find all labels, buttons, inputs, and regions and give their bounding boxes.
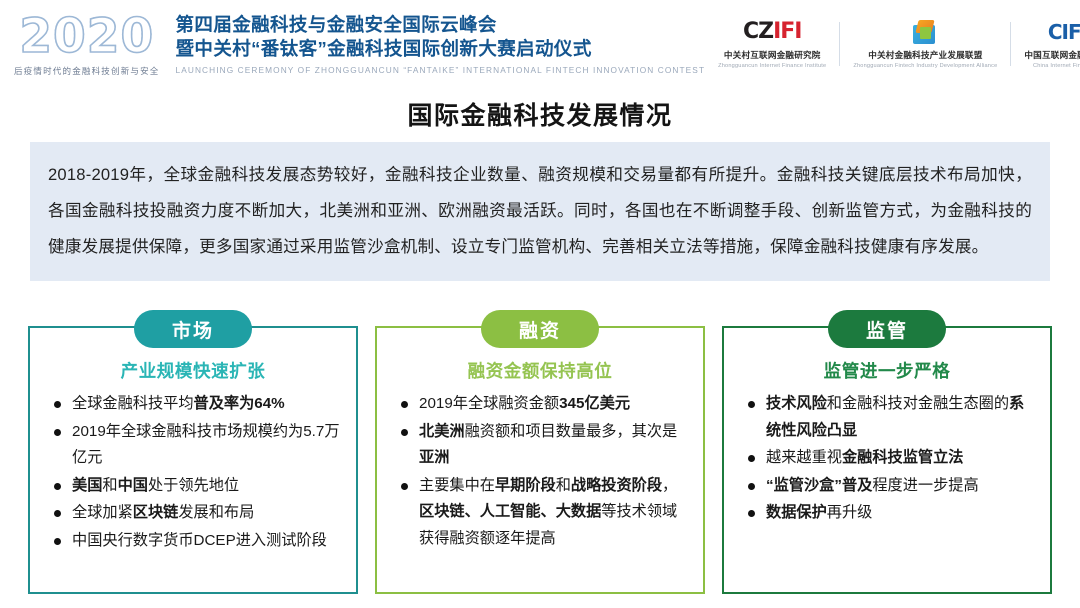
card-market: 市场 产业规模快速扩张 全球金融科技平均普及率为64%2019年全球金融科技市场… (28, 326, 358, 594)
card-regulation-bullets: 技术风险和金融科技对金融生态圈的系统性风险凸显越来越重视金融科技监管立法“监管沙… (734, 391, 1040, 527)
cif30-mark: CIF30 (1048, 20, 1080, 44)
page-title: 国际金融科技发展情况 (0, 96, 1080, 132)
logo-ezifi-en: Zhongguancun Internet Finance Institute (718, 63, 826, 69)
card-market-subtitle: 产业规模快速扩张 (40, 358, 346, 383)
event-title-english: LAUNCHING CEREMONY OF ZHONGGUANCUN “FANT… (176, 65, 706, 75)
cube-logo-icon (912, 19, 938, 45)
logo-ezifi: CZIFI 中关村互联网金融研究院 Zhongguancun Internet … (705, 19, 839, 69)
logo-ezifi-cn: 中关村互联网金融研究院 (724, 49, 821, 61)
logo-cif30: CIF30 中国互联网金融三十人论坛 China Internet Financ… (1011, 19, 1080, 69)
list-item: 中国央行数字货币DCEP进入测试阶段 (50, 528, 340, 555)
list-item: 越来越重视金融科技监管立法 (744, 445, 1034, 472)
logo-alliance-en: Zhongguancun Fintech Industry Developmen… (853, 63, 997, 69)
list-item: 美国和中国处于领先地位 (50, 473, 340, 500)
event-year-logo: 2020 后疫情时代的金融科技创新与安全 (14, 4, 160, 84)
list-item: 2019年全球金融科技市场规模约为5.7万亿元 (50, 419, 340, 472)
ezifi-logo-icon: CZIFI (743, 19, 802, 45)
card-financing: 融资 融资金额保持高位 2019年全球融资金额345亿美元北美洲融资额和项目数量… (375, 326, 705, 594)
logo-cif30-cn: 中国互联网金融三十人论坛 (1024, 49, 1080, 61)
list-item: 技术风险和金融科技对金融生态圈的系统性风险凸显 (744, 391, 1034, 444)
card-financing-bullets: 2019年全球融资金额345亿美元北美洲融资额和项目数量最多，其次是亚洲主要集中… (387, 391, 693, 552)
list-item: 全球金融科技平均普及率为64% (50, 391, 340, 418)
logo-alliance: 中关村金融科技产业发展联盟 Zhongguancun Fintech Indus… (840, 19, 1010, 69)
card-market-pill: 市场 (134, 310, 252, 348)
card-financing-pill: 融资 (481, 310, 599, 348)
event-title-line2: 暨中关村“番钛客”金融科技国际创新大赛启动仪式 (176, 37, 706, 61)
year-subtitle: 后疫情时代的金融科技创新与安全 (14, 65, 160, 77)
event-title-line1: 第四届金融科技与金融安全国际云峰会 (176, 13, 706, 37)
list-item: “监管沙盒”普及程度进一步提高 (744, 473, 1034, 500)
summary-paragraph: 2018-2019年，全球金融科技发展态势较好，金融科技企业数量、融资规模和交易… (30, 142, 1050, 281)
logo-cif30-en: China Internet Finance 30 Forum (1033, 63, 1080, 69)
partner-logos: CZIFI 中关村互联网金融研究院 Zhongguancun Internet … (705, 8, 1080, 80)
card-regulation: 监管 监管进一步严格 技术风险和金融科技对金融生态圈的系统性风险凸显越来越重视金… (722, 326, 1052, 594)
card-financing-subtitle: 融资金额保持高位 (387, 358, 693, 383)
cards-container: 市场 产业规模快速扩张 全球金融科技平均普及率为64%2019年全球金融科技市场… (28, 326, 1052, 594)
year-text: 2020 (19, 11, 154, 63)
card-regulation-subtitle: 监管进一步严格 (734, 358, 1040, 383)
card-market-bullets: 全球金融科技平均普及率为64%2019年全球金融科技市场规模约为5.7万亿元美国… (40, 391, 346, 554)
list-item: 数据保护再升级 (744, 500, 1034, 527)
ezifi-mark-dark: CZ (743, 19, 773, 44)
list-item: 北美洲融资额和项目数量最多，其次是亚洲 (397, 419, 687, 472)
card-regulation-pill: 监管 (828, 310, 946, 348)
list-item: 全球加紧区块链发展和布局 (50, 500, 340, 527)
page-header: 2020 后疫情时代的金融科技创新与安全 第四届金融科技与金融安全国际云峰会 暨… (0, 0, 1080, 88)
list-item: 2019年全球融资金额345亿美元 (397, 391, 687, 418)
list-item: 主要集中在早期阶段和战略投资阶段，区块链、人工智能、大数据等技术领域获得融资额逐… (397, 473, 687, 553)
event-title-block: 第四届金融科技与金融安全国际云峰会 暨中关村“番钛客”金融科技国际创新大赛启动仪… (176, 13, 706, 75)
cif30-logo-icon: CIF30 (1048, 19, 1080, 45)
ezifi-mark-red: IFI (773, 19, 801, 44)
logo-alliance-cn: 中关村金融科技产业发展联盟 (868, 49, 982, 61)
